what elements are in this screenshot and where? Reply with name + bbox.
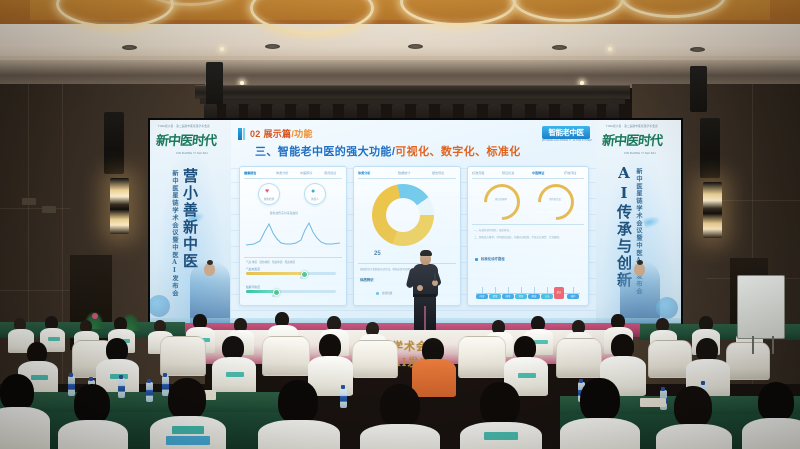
- health-report-card[interactable]: 健康报告 体质分析 中医辨识 调养建议 ♥ 脉象检测 ● 体质人 脉象波形实时采…: [239, 166, 347, 306]
- card1-tab-3[interactable]: 调养建议: [324, 170, 336, 175]
- slide-title-highlight: 可视化、数字化、标准化: [395, 146, 520, 158]
- conference-photo: TING营小善 · 第二届新中医星链学术会议 新中医时代 XIN ZHONG Y…: [0, 0, 800, 449]
- torso: [258, 420, 340, 449]
- speaker-belt: [413, 294, 436, 297]
- card2-tab-1[interactable]: 数据统计: [398, 170, 410, 175]
- torso: [412, 359, 456, 397]
- ceiling-speaker-grille: [265, 44, 280, 49]
- legend-label-0: 健康指数: [382, 291, 392, 295]
- bottle-cap: [147, 379, 151, 383]
- chair-back: [458, 336, 506, 378]
- lighting-truss: [195, 85, 630, 99]
- chair-back: [352, 340, 398, 378]
- card1-tabs[interactable]: 健康报告 体质分析 中医辨识 调养建议: [244, 170, 342, 176]
- head: [674, 386, 712, 428]
- speaker-hand-left: [417, 285, 423, 291]
- ceiling-downlight: [220, 47, 224, 51]
- line-array-speaker-left: [104, 112, 124, 174]
- ceiling-downlight: [608, 47, 612, 51]
- wall-panel-seam: [0, 290, 70, 291]
- head: [480, 382, 520, 426]
- chair-back: [556, 338, 602, 378]
- timeline-tag-0[interactable]: 问诊: [476, 294, 488, 299]
- hanging-speaker-right: [690, 66, 707, 112]
- banner-right-logo-sub: XIN ZHONG YI SHI DAI: [624, 152, 656, 155]
- person-icon-wrap[interactable]: ● 体质人: [304, 183, 326, 205]
- slide-kicker-number: 02: [250, 129, 261, 139]
- card1-tab-2[interactable]: 中医辨识: [300, 170, 312, 175]
- timeline-tag-7[interactable]: 调护: [567, 294, 579, 299]
- timeline-tag-1[interactable]: 望诊: [489, 294, 501, 299]
- ceiling-speaker-grille: [408, 44, 423, 49]
- chair-back: [726, 342, 770, 380]
- slide-kicker-label: 展示篇: [263, 129, 291, 139]
- chair-back: [262, 336, 310, 376]
- head: [168, 378, 206, 420]
- slider-1-fill: [246, 290, 276, 293]
- person-icon: ●: [311, 188, 315, 195]
- torso: [656, 424, 732, 449]
- ceiling-speaker-grille: [690, 47, 705, 52]
- slide-title-main: 三、智能老中医的强大功能: [255, 146, 392, 158]
- shirt-logo: [172, 426, 204, 434]
- bottle-cap: [89, 377, 93, 381]
- card3-note-0: 一、标准化诊疗路径，规范辨证。: [474, 228, 512, 232]
- table-flower: [92, 313, 98, 319]
- gauge-standard-label: 用药规范度: [536, 197, 574, 201]
- tcm-doctor-hair-bun: [637, 260, 643, 265]
- gauge-accuracy-label: 辨证准确率: [482, 197, 520, 201]
- torso: [0, 407, 50, 449]
- slider-0-label: 气血充盈度: [246, 267, 260, 271]
- heart-icon-caption: 脉象检测: [257, 197, 281, 201]
- speaker-hair: [420, 250, 432, 256]
- shirt-logo-line2: [166, 436, 210, 445]
- shirt-logo: [31, 375, 48, 380]
- card3-tab-0[interactable]: 标准流程: [472, 170, 484, 175]
- head: [278, 380, 318, 424]
- bottle-cap: [661, 387, 665, 391]
- shirt-logo: [226, 372, 244, 377]
- hanging-speaker-left: [206, 62, 223, 108]
- pulse-waveform-chart: [246, 219, 340, 253]
- slide-title: 三、智能老中医的强大功能/可视化、数字化、标准化: [255, 143, 521, 159]
- flipchart-whiteboard[interactable]: [737, 275, 785, 339]
- shirt-logo: [484, 432, 518, 440]
- card3-tab-1[interactable]: 辨证论治: [502, 170, 514, 175]
- head: [74, 384, 110, 424]
- slide-kicker-sub: 功能: [294, 129, 313, 139]
- head: [380, 384, 420, 428]
- handheld-microphone[interactable]: [434, 273, 436, 281]
- heart-icon: ♥: [265, 188, 269, 195]
- timeline-tag-4[interactable]: 辨证: [528, 294, 540, 299]
- card2-section-label: 体质辨识: [360, 277, 374, 282]
- legend-dot-0: [376, 292, 379, 295]
- timeline-tag-3[interactable]: 切诊: [515, 294, 527, 299]
- timeline-tag-6[interactable]: 处方: [554, 287, 564, 299]
- ai-robot-illustration: [656, 297, 678, 319]
- banner-left-headline: 营小善新中医: [180, 168, 201, 270]
- bottle-cap: [69, 373, 73, 377]
- water-bottle[interactable]: [68, 376, 75, 396]
- banner-left-logo: 新中医时代: [156, 130, 220, 152]
- notepad[interactable]: [640, 398, 666, 407]
- wall-sconce-left: [110, 178, 129, 234]
- bottle-cap: [579, 379, 583, 383]
- shirt-logo: [534, 340, 548, 344]
- constitution-tag-row: 气虚 体质 · 湿热体质 · 阴虚体质 · 阳虚体质: [246, 260, 295, 264]
- card2-note: 根据四诊合参数据自动生成，供临床参考使用。: [360, 267, 413, 271]
- banner-right: TING营小善 · 第二届新中医星链学术会议 新中医时代 XIN ZHONG Y…: [596, 120, 681, 323]
- standardization-card[interactable]: 标准流程 辨证论治 中医辨证 疗效评估 辨证准确率 用药规范度 一、标准化诊疗路…: [467, 166, 589, 306]
- shirt-logo: [518, 373, 536, 378]
- timeline-tag-2[interactable]: 闻诊: [502, 294, 514, 299]
- pulse-chart-caption: 脉象波形实时采集曲线: [270, 211, 298, 215]
- flipchart-leg: [752, 336, 754, 354]
- brand-logo-sub: ZHI NENG LAO ZHONG YI · AI TCM SYSTEM: [542, 139, 590, 142]
- head: [580, 378, 620, 422]
- card3-section-label: 标准化诊疗路径: [481, 256, 505, 261]
- slide-kicker: 02 展示篇/功能: [250, 127, 313, 140]
- water-bottle[interactable]: [146, 382, 153, 402]
- brand-logo: 智能老中医: [542, 126, 590, 139]
- torso: [742, 418, 800, 449]
- banner-right-logo: 新中医时代: [602, 130, 666, 152]
- card2-tab-2[interactable]: 报告导出: [432, 170, 444, 175]
- person-icon-caption: 体质人: [303, 197, 327, 201]
- banner-left-subline: 新中医星链学术会议暨中医AI发布会: [170, 170, 179, 297]
- bottle-cap: [341, 385, 345, 389]
- gauge-standard: [531, 177, 582, 228]
- timeline-tag-5[interactable]: 立法: [541, 294, 553, 299]
- ceiling-speaker-grille: [552, 45, 567, 50]
- title-accent-bar: [238, 128, 242, 140]
- banner-left-tiny-text: TING营小善 · 第二届新中医星链学术会议: [158, 124, 210, 128]
- banner-left-logo-text: 新中医时代: [155, 130, 221, 152]
- card1-tab-1[interactable]: 体质分析: [276, 170, 288, 175]
- card3-note-1: 二、智能处方推荐，药材配伍校验，剂量自动核算，不良反应预警、疗效跟踪。: [474, 235, 562, 239]
- heart-icon-wrap[interactable]: ♥ 脉象检测: [258, 183, 280, 205]
- bottle-cap: [163, 373, 167, 377]
- wall-sconce-right: [703, 182, 722, 238]
- tcm-doctor-hair-bun: [207, 260, 213, 265]
- speaker-leg-gap: [424, 306, 426, 332]
- slider-1-label: 脏腑平衡度: [246, 285, 260, 289]
- banner-left-logo-sub: XIN ZHONG YI SHI DAI: [176, 152, 208, 155]
- torso: [58, 420, 128, 449]
- slider-1-value: 38: [272, 295, 275, 298]
- stat-left-value: 25: [374, 251, 381, 257]
- ceiling-soffit: [0, 24, 800, 60]
- bottle-cap: [701, 381, 705, 385]
- chair-back: [160, 336, 206, 376]
- head: [0, 374, 34, 411]
- card3-tab-2[interactable]: 中医辨证: [532, 170, 544, 175]
- slider-0-value: 72: [300, 277, 303, 280]
- title-accent-bar-2: [243, 128, 245, 140]
- flipchart-leg: [772, 336, 774, 354]
- banner-right-logo-text: 新中医时代: [601, 130, 667, 152]
- torso: [560, 418, 640, 449]
- line-array-speaker-right: [700, 118, 720, 178]
- slider-0-fill: [246, 272, 304, 275]
- wall-panel-seam: [0, 208, 70, 209]
- donut-hole: [386, 198, 420, 232]
- shirt-logo: [48, 337, 60, 341]
- water-bottle[interactable]: [340, 388, 347, 408]
- wall-sensor: [42, 206, 56, 213]
- banner-right-tiny-text: TING营小善 · 第二届新中医星链学术会议: [606, 124, 658, 128]
- card1-tab-0[interactable]: 健康报告: [244, 170, 256, 175]
- head: [758, 382, 794, 422]
- card3-tab-3[interactable]: 疗效评估: [564, 170, 576, 175]
- banner-left: TING营小善 · 第二届新中医星链学术会议 新中医时代 XIN ZHONG Y…: [150, 120, 231, 323]
- gauge-accuracy: [477, 177, 528, 228]
- bottle-cap: [119, 375, 123, 379]
- card3-tabs[interactable]: 标准流程 辨证论治 中医辨证 疗效评估: [472, 170, 584, 176]
- wall-sensor: [22, 198, 36, 205]
- ceiling-speaker-grille: [122, 45, 137, 50]
- water-bottle[interactable]: [118, 378, 125, 398]
- card2-tab-0[interactable]: 体质分析: [358, 170, 370, 175]
- section-bullet: [475, 258, 478, 261]
- card2-tabs[interactable]: 体质分析 数据统计 报告导出: [358, 170, 456, 176]
- torso: [360, 424, 440, 449]
